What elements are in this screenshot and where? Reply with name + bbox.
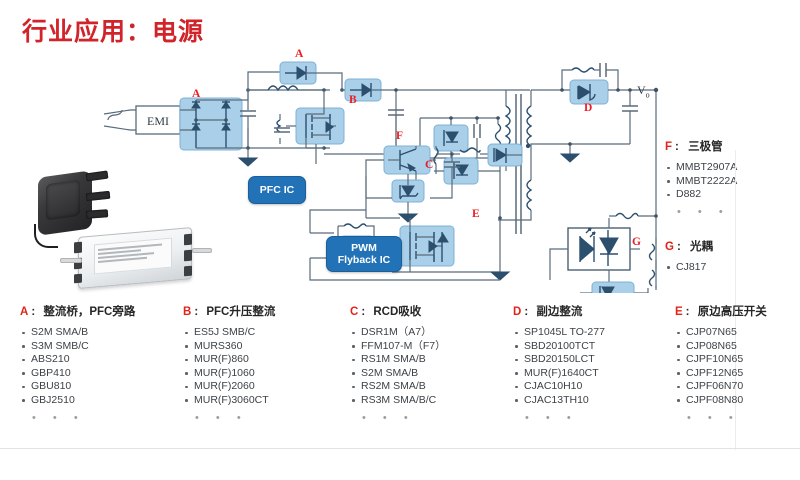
legend-a-more: • • • (32, 412, 180, 424)
list-item: MURS360 (183, 340, 348, 354)
side-group-f-colon: : (675, 141, 679, 153)
legend-column-a-heading: A: 整流桥，PFC旁路 (20, 305, 180, 320)
list-item: SP1045L TO-277 (513, 326, 688, 340)
legend-b-more: • • • (195, 412, 348, 424)
svg-text:EMI: EMI (147, 114, 169, 128)
legend-a-title: 整流桥，PFC旁路 (43, 306, 135, 318)
list-item: CJPF08N80 (675, 394, 800, 408)
slide-root: 行业应用：电源 (0, 0, 800, 480)
legend-column-e: E: 原边高压开关 CJP07N65 CJP08N65 CJPF10N65 CJ… (675, 305, 800, 424)
list-item: MUR(F)860 (183, 353, 348, 367)
list-item: MMBT2907A (665, 161, 795, 175)
legend-d-key: D (513, 306, 521, 318)
adapter-cord (34, 224, 58, 248)
list-item: S2M SMA/B (20, 326, 180, 340)
list-item: ES5J SMB/C (183, 326, 348, 340)
legend-a-list: S2M SMA/B S3M SMB/C ABS210 GBP410 GBU810… (20, 326, 180, 408)
side-group-g-key: G (665, 241, 674, 253)
list-item: MUR(F)3060CT (183, 394, 348, 408)
callout-g-optocoupler: G (632, 236, 641, 248)
legend-column-d-heading: D: 副边整流 (513, 305, 688, 320)
list-item: ABS210 (20, 353, 180, 367)
legend-d-colon: : (524, 306, 528, 318)
legend-c-list: DSR1M（A7） FFM107-M（F7） RS1M SMA/B S2M SM… (350, 326, 515, 408)
legend-column-d: D: 副边整流 SP1045L TO-277 SBD20100TCT SBD20… (513, 305, 688, 424)
legend-c-key: C (350, 306, 358, 318)
list-item: DSR1M（A7） (350, 326, 515, 340)
side-group-f-title: 三极管 (688, 141, 723, 153)
side-group-f-list: MMBT2907A MMBT2222A D882 (665, 161, 795, 202)
list-item: D882 (665, 188, 795, 202)
list-item: SBD20150LCT (513, 353, 688, 367)
legend-e-list: CJP07N65 CJP08N65 CJPF10N65 CJPF12N65 CJ… (675, 326, 800, 408)
legend-a-key: A (20, 306, 28, 318)
legend-column-a: A: 整流桥，PFC旁路 S2M SMA/B S3M SMB/C ABS210 … (20, 305, 180, 424)
legend-e-title: 原边高压开关 (698, 306, 767, 318)
pwm-flyback-ic-block[interactable]: PWM Flyback IC (326, 236, 402, 272)
output-voltage-subscript: o (646, 90, 650, 99)
callout-d-secrect: D (584, 102, 592, 114)
page-title: 行业应用：电源 (22, 12, 204, 48)
legend-e-colon: : (686, 306, 690, 318)
legend-b-title: PFC升压整流 (206, 306, 275, 318)
driver-fin (74, 242, 82, 254)
legend-d-title: 副边整流 (536, 306, 582, 318)
legend-column-b-heading: B: PFC升压整流 (183, 305, 348, 320)
list-item: CJPF12N65 (675, 367, 800, 381)
bottom-divider (0, 448, 800, 449)
list-item: GBU810 (20, 380, 180, 394)
side-group-f-more: • • • (677, 206, 795, 218)
list-item: MUR(F)1060 (183, 367, 348, 381)
callout-f-transistor: F (396, 130, 403, 142)
legend-column-c-heading: C: RCD吸收 (350, 305, 515, 320)
legend-d-more: • • • (525, 412, 688, 424)
list-item: GBJ2510 (20, 394, 180, 408)
legend-column-c: C: RCD吸收 DSR1M（A7） FFM107-M（F7） RS1M SMA… (350, 305, 515, 424)
legend-c-title: RCD吸收 (373, 306, 421, 318)
pwm-ic-line2: Flyback IC (338, 254, 391, 266)
list-item: FFM107-M（F7） (350, 340, 515, 354)
legend-e-key: E (675, 306, 683, 318)
list-item: GBP410 (20, 367, 180, 381)
list-item: RS2M SMA/B (350, 380, 515, 394)
side-legend: F: 三极管 MMBT2907A MMBT2222A D882 • • • G:… (665, 140, 795, 290)
side-group-f-key: F (665, 141, 672, 153)
list-item: MUR(F)2060 (183, 380, 348, 394)
list-item: MUR(F)1640CT (513, 367, 688, 381)
legend-columns: A: 整流桥，PFC旁路 S2M SMA/B S3M SMB/C ABS210 … (20, 305, 780, 440)
legend-b-colon: : (194, 306, 198, 318)
side-group-f-heading: F: 三极管 (665, 140, 795, 155)
list-item: CJ817 (665, 261, 795, 275)
legend-b-key: B (183, 306, 191, 318)
adapter-face (46, 180, 80, 221)
legend-c-more: • • • (362, 412, 515, 424)
legend-c-colon: : (361, 306, 365, 318)
pwm-ic-line1: PWM (351, 242, 377, 254)
list-item: CJPF06N70 (675, 380, 800, 394)
legend-column-e-heading: E: 原边高压开关 (675, 305, 800, 320)
legend-b-list: ES5J SMB/C MURS360 MUR(F)860 MUR(F)1060 … (183, 326, 348, 408)
callout-c-snubber: C (425, 159, 433, 171)
list-item: MMBT2222A (665, 175, 795, 189)
list-item: CJAC10H10 (513, 380, 688, 394)
list-item: S2M SMA/B (350, 367, 515, 381)
pfc-ic-block[interactable]: PFC IC (248, 176, 306, 204)
list-item: CJP08N65 (675, 340, 800, 354)
callout-b-boost: B (349, 94, 357, 106)
callout-e-mosfet: E (472, 208, 480, 220)
list-item: RS3M SMA/B/C (350, 394, 515, 408)
legend-a-colon: : (31, 306, 35, 318)
callout-a-bypass: A (295, 48, 303, 60)
output-voltage-symbol: V (637, 83, 646, 97)
list-item: CJPF10N65 (675, 353, 800, 367)
side-group-g-colon: : (677, 241, 681, 253)
list-item: S3M SMB/C (20, 340, 180, 354)
driver-fin (74, 274, 82, 284)
legend-d-list: SP1045L TO-277 SBD20100TCT SBD20150LCT M… (513, 326, 688, 408)
side-group-f: F: 三极管 MMBT2907A MMBT2222A D882 • • • (665, 140, 795, 218)
side-group-g-heading: G: 光耦 (665, 240, 795, 255)
side-group-g-list: CJ817 (665, 261, 795, 275)
legend-e-more: • • • (687, 412, 800, 424)
driver-input-wire (60, 258, 82, 263)
callout-a-bridge: A (192, 88, 200, 100)
side-group-g-title: 光耦 (690, 241, 713, 253)
list-item: CJAC13TH10 (513, 394, 688, 408)
list-item: RS1M SMA/B (350, 353, 515, 367)
output-voltage-label: Vo (637, 83, 650, 99)
list-item: CJP07N65 (675, 326, 800, 340)
list-item: SBD20100TCT (513, 340, 688, 354)
legend-column-b: B: PFC升压整流 ES5J SMB/C MURS360 MUR(F)860 … (183, 305, 348, 424)
side-group-g: G: 光耦 CJ817 (665, 240, 795, 275)
